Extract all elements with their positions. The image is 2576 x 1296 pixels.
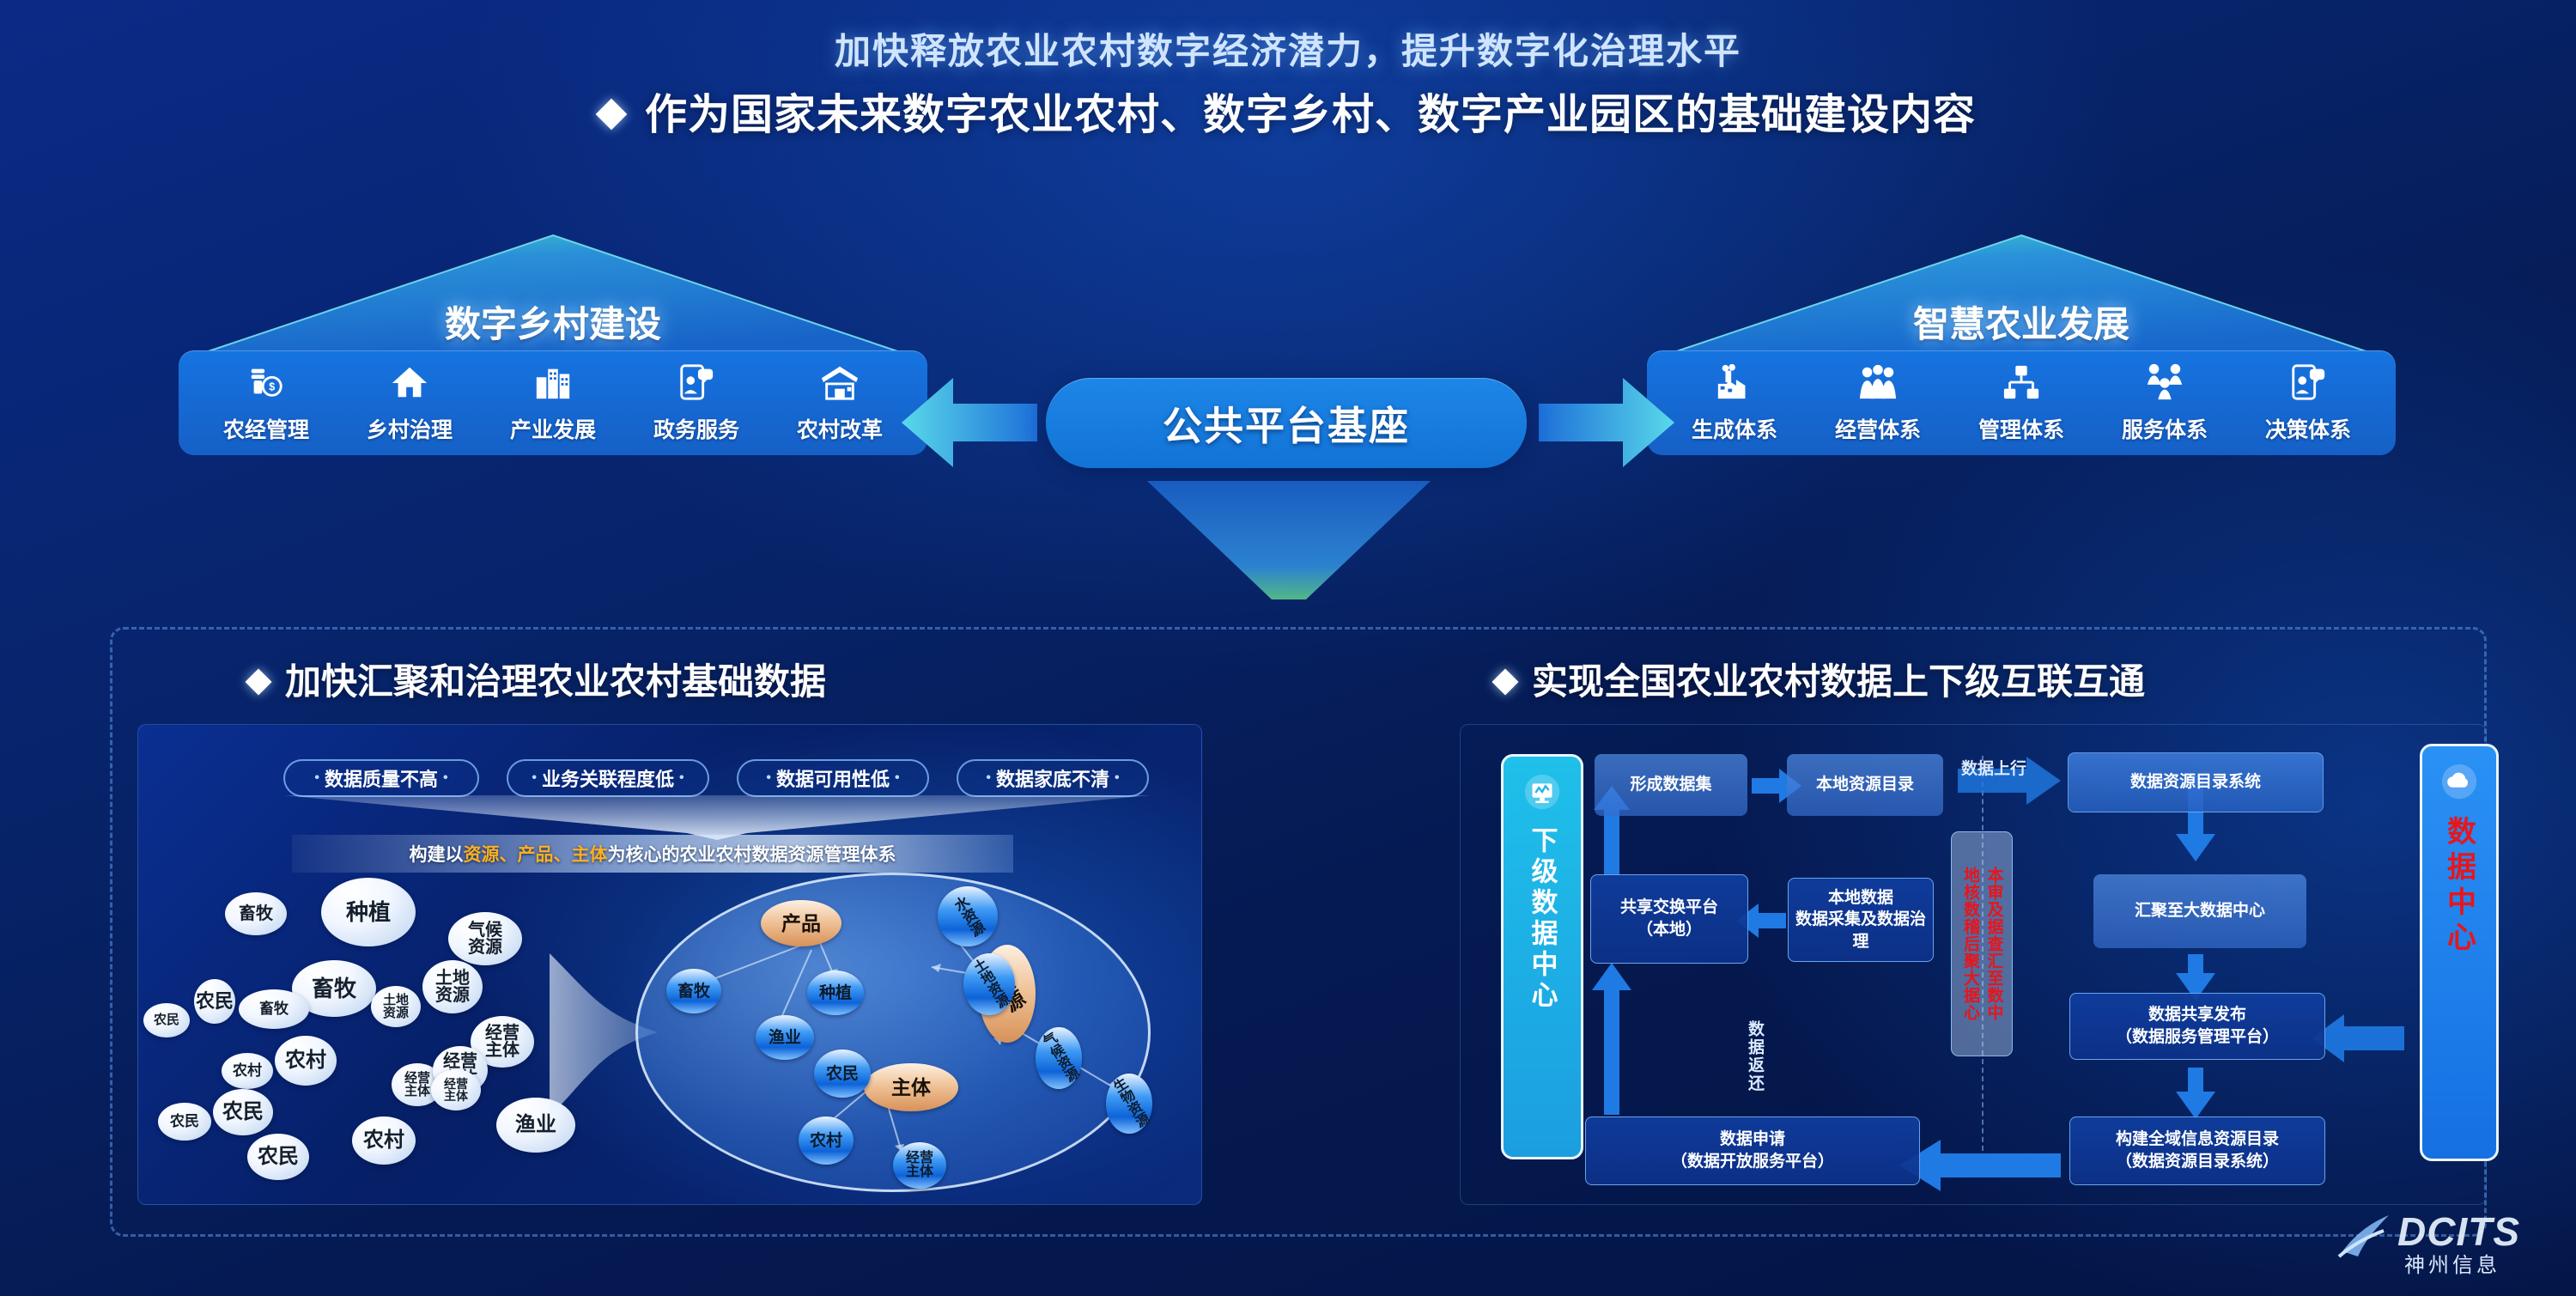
scatter-bubble-label: 经营主体 xyxy=(443,1078,468,1103)
hub-node-label: 主体 xyxy=(891,1078,931,1098)
scatter-bubble-label: 农民 xyxy=(196,992,234,1011)
scatter-bubble-label: 种植 xyxy=(346,901,391,924)
scatter-bubble-label: 畜牧 xyxy=(239,905,273,922)
core-system-banner: 构建以资源、产品、主体为核心的农业农村数据资源管理体系 xyxy=(292,835,1013,873)
right-house-item-1[interactable]: 经营体系 xyxy=(1822,362,1934,444)
core-system-banner-text: 构建以资源、产品、主体为核心的农业农村数据资源管理体系 xyxy=(410,841,896,867)
hub-node: 主体 xyxy=(864,1063,958,1111)
right-house-card: 智慧农业发展 生成体系 经营体系 管理体系 服务体系 决策体系 xyxy=(1647,234,2396,459)
aggregate-to-big-data-center-label: 汇聚至大数据中心 xyxy=(2135,900,2265,922)
left-house-item-0-label: 农经管理 xyxy=(223,413,309,444)
right-house-item-2[interactable]: 管理体系 xyxy=(1965,362,2077,444)
page-subtitle-text: 作为国家未来数字农业农村、数字乡村、数字产业园区的基础建设内容 xyxy=(645,92,1976,138)
right-house-item-1-label: 经营体系 xyxy=(1835,413,1921,444)
right-house-item-2-label: 管理体系 xyxy=(1978,413,2064,444)
build-global-catalog-label: 构建全域信息资源目录 （数据资源目录系统） xyxy=(2116,1129,2279,1172)
left-house-card: 数字乡村建设 $ 农经管理 乡村治理 产业发展 政务服务 农村改革 xyxy=(179,234,927,459)
svg-text:$: $ xyxy=(269,380,275,392)
left-house-item-4[interactable]: 农村改革 xyxy=(784,362,896,444)
leaf-node: 水资源 xyxy=(938,886,998,946)
local-resource-catalog-box[interactable]: 本地资源目录 xyxy=(1787,754,1943,816)
scatter-bubble-label: 渔业 xyxy=(515,1115,556,1135)
data-application-box[interactable]: 数据申请 （数据开放服务平台） xyxy=(1585,1117,1920,1185)
funnel-arrow-icon xyxy=(283,795,1151,840)
scatter-bubble-label: 畜牧 xyxy=(259,1001,289,1016)
scatter-bubble: 土地资源 xyxy=(422,960,483,1013)
bullet-dot-icon: • xyxy=(532,770,537,786)
bullet-dot-icon: • xyxy=(986,770,991,786)
left-panel-heading: 加快汇聚和治理农业农村基础数据 xyxy=(249,653,826,705)
scatter-bubble-label: 土地资源 xyxy=(382,994,410,1020)
red-audit-note: 地核数稽后聚大据心 本审及据查汇至数中 xyxy=(1951,831,2013,1056)
scatter-bubble-label: 经营主体 xyxy=(404,1072,431,1098)
problem-pill-2[interactable]: •数据可用性低• xyxy=(737,759,929,797)
scatter-bubble: 畜牧 xyxy=(225,892,287,935)
red-audit-note-col-right: 地核数稽后聚大据心 xyxy=(1958,867,1982,1021)
leaf-node: 气候资源 xyxy=(1036,1027,1082,1089)
data-resource-catalog-system-box[interactable]: 数据资源目录系统 xyxy=(2068,752,2324,812)
page-subtitle: 作为国家未来数字农业农村、数字乡村、数字产业园区的基础建设内容 xyxy=(0,81,2576,142)
left-house-item-3[interactable]: 政务服务 xyxy=(641,362,752,444)
left-house-base: $ 农经管理 乡村治理 产业发展 政务服务 农村改革 xyxy=(179,350,927,455)
leaf-node: 生物资源 xyxy=(1106,1074,1152,1134)
scatter-bubble: 农村 xyxy=(275,1036,337,1086)
local-resource-catalog-label: 本地资源目录 xyxy=(1816,774,1914,796)
bullet-dot-icon: • xyxy=(1115,770,1120,786)
scatter-bubble-label: 农村 xyxy=(233,1063,262,1078)
right-house-item-3-label: 服务体系 xyxy=(2122,413,2208,444)
problem-pill-1[interactable]: •业务关联程度低• xyxy=(507,759,709,797)
center-platform-pill[interactable]: 公共平台基座 xyxy=(1046,378,1527,468)
scatter-bubble: 种植 xyxy=(321,878,416,946)
scatter-bubble-label: 土地资源 xyxy=(434,970,471,1005)
scatter-bubble: 农村 xyxy=(222,1053,273,1089)
arrow-down-to-panels xyxy=(1147,481,1431,601)
leaf-node-label: 气候资源 xyxy=(1038,1031,1078,1086)
people-group-icon xyxy=(1858,362,1898,406)
scatter-bubble: 农民 xyxy=(213,1089,273,1135)
data-share-publish-label: 数据共享发布 （数据服务管理平台） xyxy=(2116,1004,2279,1048)
scatter-bubble-label: 农村 xyxy=(363,1130,404,1151)
right-house-item-4[interactable]: 决策体系 xyxy=(2252,362,2364,444)
leaf-node-label: 畜牧 xyxy=(677,983,710,1000)
scatter-bubble-label: 气候资源 xyxy=(467,922,503,957)
left-panel-heading-text: 加快汇聚和治理农业农村基础数据 xyxy=(285,661,826,702)
left-house-item-0[interactable]: $ 农经管理 xyxy=(210,362,322,444)
service-people-icon xyxy=(2145,362,2184,406)
scatter-bubble: 农民 xyxy=(194,979,235,1024)
build-global-catalog-box[interactable]: 构建全域信息资源目录 （数据资源目录系统） xyxy=(2069,1117,2325,1185)
factory-icon xyxy=(1715,362,1754,406)
arrow-left-to-house xyxy=(902,371,1039,474)
leaf-node: 经营主体 xyxy=(893,1142,946,1189)
local-data-collection-label: 本地数据 数据采集及数据治理 xyxy=(1794,887,1928,953)
logo-sub-text: 神州信息 xyxy=(2404,1248,2500,1278)
local-data-collection-box[interactable]: 本地数据 数据采集及数据治理 xyxy=(1788,878,1934,962)
problem-pill-3[interactable]: •数据家底不清• xyxy=(957,759,1149,797)
bullet-dot-icon: • xyxy=(679,770,684,786)
leaf-node-label: 土地资源 xyxy=(969,958,1009,1012)
leaf-node: 土地资源 xyxy=(963,953,1015,1015)
arrow-right-to-house xyxy=(1537,371,1674,474)
money-stack-icon: $ xyxy=(246,362,286,406)
problem-pill-3-label: 数据家底不清 xyxy=(996,764,1109,792)
right-house-item-0-label: 生成体系 xyxy=(1692,413,1777,444)
logo-mark-icon xyxy=(2336,1207,2397,1263)
leaf-node: 农村 xyxy=(799,1117,854,1165)
scatter-bubble: 经营主体 xyxy=(431,1069,481,1110)
scatter-bubble-label: 畜牧 xyxy=(312,977,356,1001)
hub-node: 产品 xyxy=(761,900,841,946)
scatter-bubble-label: 农民 xyxy=(258,1147,299,1167)
scatter-bubble-label: 农村 xyxy=(285,1050,326,1071)
leaf-node-label: 经营主体 xyxy=(905,1152,934,1179)
left-house-item-1-label: 乡村治理 xyxy=(367,413,453,444)
page-title: 加快释放农业农村数字经济潜力，提升数字化治理水平 xyxy=(0,22,2576,75)
right-house-item-3[interactable]: 服务体系 xyxy=(2109,362,2221,444)
share-exchange-platform-box[interactable]: 共享交换平台 （本地） xyxy=(1590,874,1748,964)
data-application-label: 数据申请 （数据开放服务平台） xyxy=(1671,1129,1834,1172)
leaf-node-label: 农村 xyxy=(810,1133,842,1149)
left-house-item-3-label: 政务服务 xyxy=(653,413,739,444)
leaf-node-label: 渔业 xyxy=(769,1030,801,1046)
mobile-service-icon xyxy=(677,362,716,406)
scatter-bubble: 农民 xyxy=(158,1103,211,1141)
leaf-node-label: 农民 xyxy=(826,1066,859,1082)
left-house-item-4-label: 农村改革 xyxy=(797,413,883,444)
bullet-dot-icon: • xyxy=(314,770,319,786)
right-house-base: 生成体系 经营体系 管理体系 服务体系 决策体系 xyxy=(1647,350,2396,455)
right-panel-heading: 实现全国农业农村数据上下级互联互通 xyxy=(1496,653,2145,705)
right-house-item-0[interactable]: 生成体系 xyxy=(1679,362,1790,444)
buildings-icon xyxy=(533,362,573,406)
center-platform-label: 公共平台基座 xyxy=(1163,395,1410,452)
problem-pill-0-label: 数据质量不高 xyxy=(325,764,438,792)
hub-node-label: 产品 xyxy=(781,914,821,934)
left-house-item-2[interactable]: 产业发展 xyxy=(497,362,609,444)
leaf-node: 渔业 xyxy=(756,1015,814,1060)
right-house-title: 智慧农业发展 xyxy=(1647,295,2396,348)
left-house-item-1[interactable]: 乡村治理 xyxy=(354,362,465,444)
scatter-bubble-label: 农民 xyxy=(170,1114,199,1129)
bullet-dot-icon: • xyxy=(766,770,771,786)
leaf-node-label: 种植 xyxy=(819,985,852,1001)
data-return-label: 数据返还 xyxy=(1743,1020,1766,1092)
diamond-bullet-icon xyxy=(596,99,628,131)
leaf-node-label: 生物资源 xyxy=(1109,1077,1149,1131)
scatter-bubble-label: 农民 xyxy=(222,1102,264,1123)
problem-pill-0[interactable]: •数据质量不高• xyxy=(283,759,479,797)
mobile-decision-icon xyxy=(2288,362,2328,406)
leaf-node: 种植 xyxy=(807,970,864,1015)
home-icon xyxy=(390,362,429,406)
leaf-node: 畜牧 xyxy=(666,969,721,1013)
company-logo: DCITS 神州信息 xyxy=(2330,1195,2545,1277)
share-exchange-platform-label: 共享交换平台 （本地） xyxy=(1620,897,1718,940)
form-dataset-box[interactable]: 形成数据集 xyxy=(1595,754,1747,816)
data-share-publish-box[interactable]: 数据共享发布 （数据服务管理平台） xyxy=(2069,993,2325,1060)
scatter-bubble: 土地资源 xyxy=(371,986,421,1027)
diamond-bullet-icon xyxy=(1492,668,1518,695)
left-house-item-2-label: 产业发展 xyxy=(510,413,596,444)
leaf-node-label: 水资源 xyxy=(950,894,985,939)
left-house-title: 数字乡村建设 xyxy=(179,295,927,348)
leaf-node: 农民 xyxy=(814,1050,871,1098)
scatter-bubble: 畜牧 xyxy=(239,989,309,1029)
problem-pill-1-label: 业务关联程度低 xyxy=(542,764,674,792)
village-house-icon xyxy=(820,362,860,406)
problem-pill-2-label: 数据可用性低 xyxy=(776,764,890,792)
scatter-bubble: 农民 xyxy=(247,1134,309,1180)
diamond-bullet-icon xyxy=(245,668,271,695)
form-dataset-label: 形成数据集 xyxy=(1630,774,1711,796)
bullet-dot-icon: • xyxy=(443,770,448,786)
red-audit-note-col-left: 本审及据查汇至数中 xyxy=(1982,867,2006,1021)
scatter-bubble: 气候资源 xyxy=(448,912,522,965)
right-panel-heading-text: 实现全国农业农村数据上下级互联互通 xyxy=(1532,661,2145,702)
scatter-bubble-label: 经营主体 xyxy=(484,1025,520,1060)
aggregate-to-big-data-center-box[interactable]: 汇聚至大数据中心 xyxy=(2093,874,2306,948)
scatter-bubble: 农民 xyxy=(143,1003,190,1037)
org-chart-icon xyxy=(2002,362,2041,406)
scatter-bubble: 农村 xyxy=(352,1117,416,1165)
bullet-dot-icon: • xyxy=(895,770,900,786)
right-house-item-4-label: 决策体系 xyxy=(2265,413,2351,444)
data-resource-catalog-system-label: 数据资源目录系统 xyxy=(2130,771,2261,794)
data-upstream-label: 数据上行 xyxy=(1961,756,2026,779)
scatter-bubble-label: 农民 xyxy=(154,1013,179,1026)
